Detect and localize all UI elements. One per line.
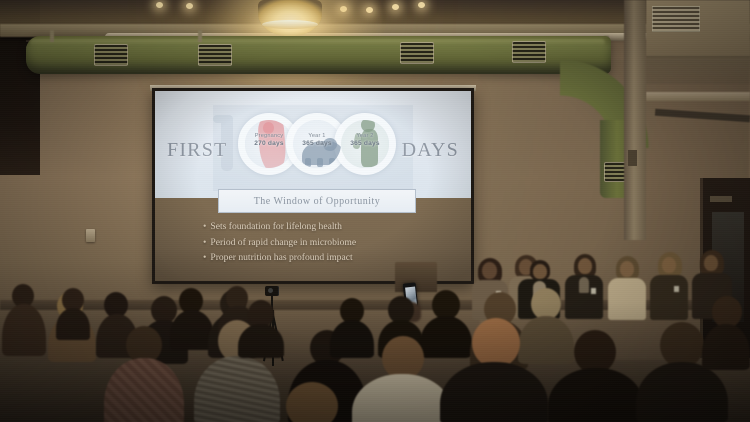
ceiling-light-icon (418, 2, 425, 8)
slide-bullet: Sets foundation for lifelong health (203, 219, 453, 235)
pendant-lamp-ring (262, 20, 318, 29)
stage-label-year2: Year 2 365 days (341, 133, 389, 149)
ceiling-light-icon (340, 6, 347, 12)
stage-duration-year1: 365 days (302, 140, 331, 147)
door-sign (710, 196, 732, 202)
projection-screen: Pregnancy 270 days Year 1 365 days Year … (155, 91, 471, 281)
stage-name-year1: Year 1 (308, 133, 325, 139)
slide-bullet: Period of rapid change in microbiome (203, 235, 453, 251)
stage-duration-year2: 365 days (350, 140, 379, 147)
duct-vent-grille-icon (400, 42, 434, 64)
camera-lens-icon (268, 288, 273, 293)
stage-label-pregnancy: Pregnancy 270 days (245, 133, 293, 149)
audience-member (258, 382, 368, 422)
ceiling-soffit-lower (646, 58, 750, 84)
headline-first: FIRST (167, 139, 227, 162)
light-switch[interactable] (86, 229, 95, 242)
ceiling-rail (646, 92, 750, 101)
duct-vent-grille-icon (198, 44, 232, 66)
audience-member (440, 318, 548, 422)
audience-member (2, 284, 44, 354)
soffit-vent-icon (652, 6, 700, 32)
ceiling-light-icon (366, 7, 373, 13)
slide-banner-text: The Window of Opportunity (254, 196, 381, 207)
audience-member (548, 330, 644, 422)
column-plate (628, 150, 637, 166)
duct-vent-grille-icon (94, 44, 128, 66)
ceiling-light-icon (392, 4, 399, 10)
stage-name-year2: Year 2 (356, 133, 373, 139)
slide-banner: The Window of Opportunity (218, 189, 416, 213)
ceiling-light-icon (186, 3, 193, 9)
ceiling-light-icon (156, 2, 163, 8)
photo-scene: Pregnancy 270 days Year 1 365 days Year … (0, 0, 750, 422)
headline-days: DAYS (402, 139, 459, 162)
audience-member (238, 300, 284, 354)
stage-name-pregnancy: Pregnancy (255, 133, 284, 139)
wall-column (624, 0, 646, 240)
slide-bullet-list: Sets foundation for lifelong health Peri… (203, 219, 453, 266)
stage-duration-pregnancy: 270 days (254, 140, 283, 147)
walking-toddler-head (361, 118, 375, 132)
audience-member (104, 326, 184, 422)
stage-label-year1: Year 1 365 days (293, 133, 341, 149)
audience-member (702, 296, 750, 366)
slide-bullet: Proper nutrition has profound impact (203, 250, 453, 266)
audience-member (56, 288, 90, 336)
duct-vent-grille-icon (512, 41, 546, 63)
panelist (648, 252, 690, 318)
panelist (606, 256, 648, 318)
